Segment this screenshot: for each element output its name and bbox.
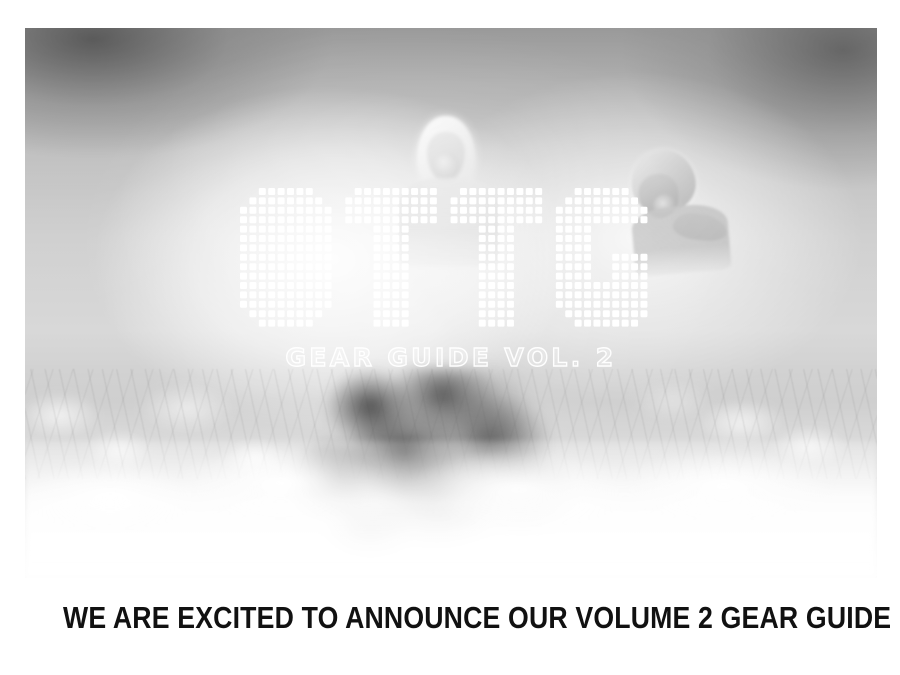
body-shape xyxy=(630,202,731,277)
hero-photo: GEAR GUIDE VOL. 2 xyxy=(25,28,877,578)
gas-mask-icon xyxy=(433,152,459,178)
page-canvas: GEAR GUIDE VOL. 2 WE ARE EXCITED TO ANNO… xyxy=(0,0,900,675)
figure-right xyxy=(617,148,729,273)
body-shape xyxy=(399,178,499,266)
snow-foreground xyxy=(25,441,877,579)
figure-left xyxy=(395,116,505,266)
announcement-caption: WE ARE EXCITED TO ANNOUNCE OUR VOLUME 2 … xyxy=(63,598,837,638)
